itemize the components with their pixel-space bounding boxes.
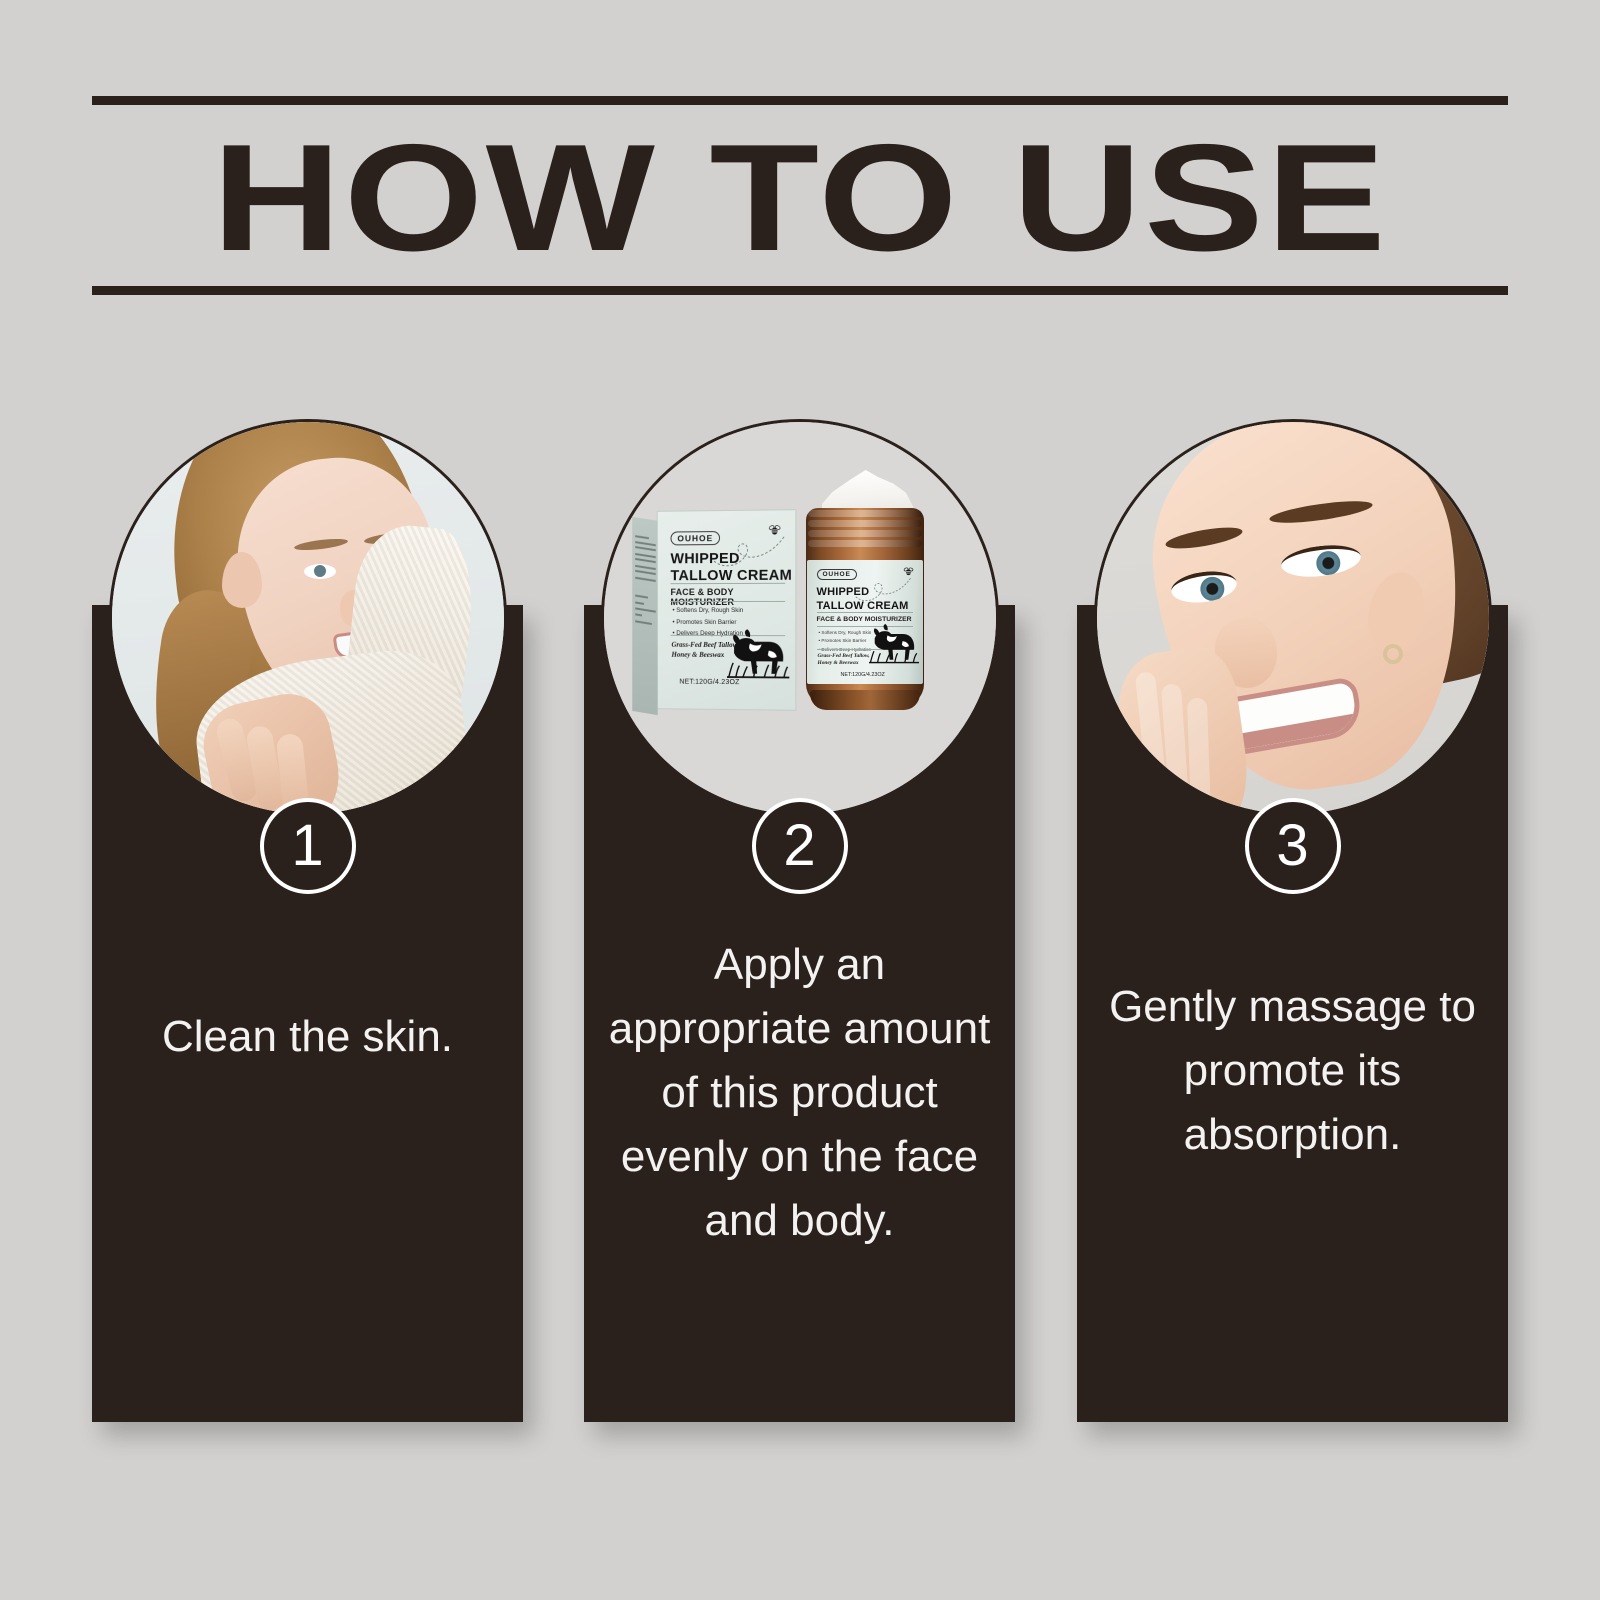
product-box-side-panel [632,517,657,715]
step-card-1: 1 Clean the skin. [92,605,523,1422]
header-rule-bottom [92,286,1508,295]
earring-icon [1383,644,1403,664]
step-2-media-circle: OUHOE WHIPPEDTALLOW CREAM FACE & BODY MO… [601,419,999,817]
step-card-2: OUHOE WHIPPEDTALLOW CREAM FACE & BODY MO… [584,605,1015,1422]
bee-icon-jar [903,567,914,576]
photo-woman-cleansing-face-with-towel [112,422,504,814]
step-1-media-circle [109,419,507,817]
step-caption-3: Gently massage to promote its absorption… [1077,975,1508,1167]
product-box: OUHOE WHIPPEDTALLOW CREAM FACE & BODY MO… [656,509,796,711]
jar-label: OUHOE WHIPPEDTALLOW CREAM FACE & BODY MO… [807,560,923,684]
header-rule-top [92,96,1508,105]
page-header: HOW TO USE [92,96,1508,295]
cow-illustration-icon [726,627,788,682]
step-3-media-circle [1094,419,1492,817]
product-subtitle-box: FACE & BODY MOISTURIZER [670,587,795,607]
product-net-weight-jar: NET:120G/4.23OZ [841,672,885,678]
photo-woman-smiling-hand-on-cheek [1097,422,1489,814]
step-caption-1: Clean the skin. [92,1005,523,1069]
photo-product-box-and-jar: OUHOE WHIPPEDTALLOW CREAM FACE & BODY MO… [604,422,996,814]
finger-3 [1186,698,1210,817]
product-ingredients-jar: Grass-Fed Beef Tallow,Honey & Beeswax [818,653,870,668]
step-number-badge-3: 3 [1245,798,1341,894]
step-caption-2: Apply an appropriate amount of this prod… [584,933,1015,1253]
step-card-3: 3 Gently massage to promote its absorpti… [1077,605,1508,1422]
product-benefits-jar: • Softens Dry, Rough Skin • Promotes Ski… [819,630,872,655]
product-brand-jar: OUHOE [817,569,857,580]
eye-left [304,564,336,579]
page-title: HOW TO USE [0,105,1600,286]
product-brand-box: OUHOE [670,531,720,545]
step-number-badge-2: 2 [752,798,848,894]
jar-base [810,690,920,710]
product-jar: OUHOE WHIPPEDTALLOW CREAM FACE & BODY MO… [800,474,930,710]
cow-illustration-icon-jar [869,622,919,666]
product-name-jar: WHIPPEDTALLOW CREAM [817,586,909,613]
step-number-badge-1: 1 [260,798,356,894]
product-name-box: WHIPPEDTALLOW CREAM [670,551,792,586]
